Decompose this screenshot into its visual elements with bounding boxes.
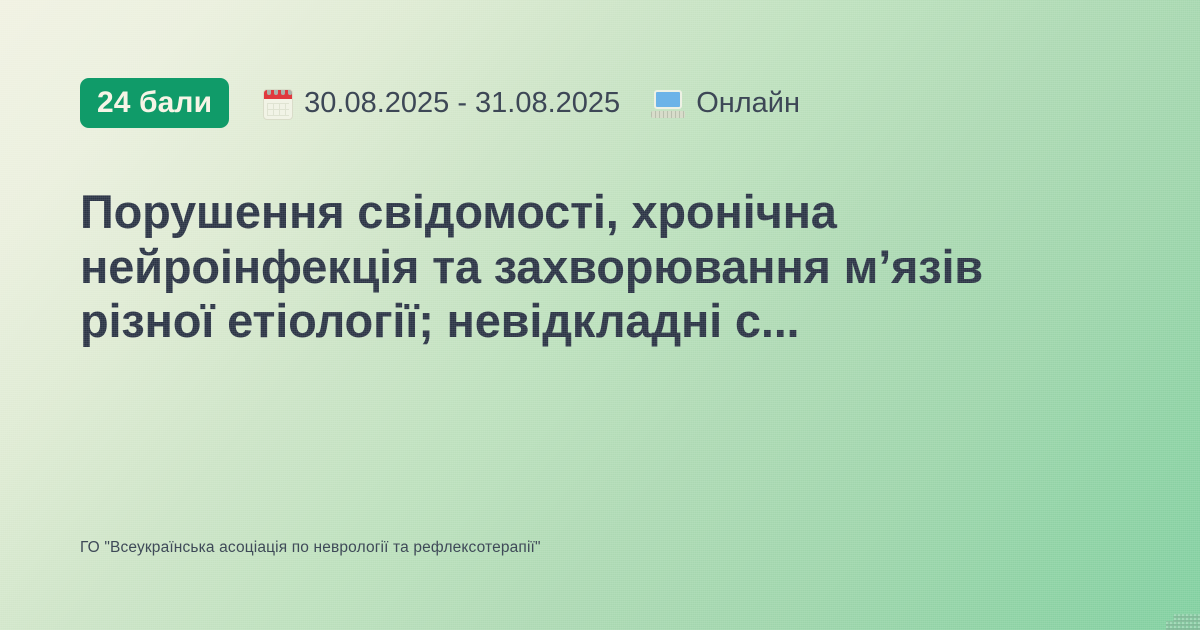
event-card: 24 бали 30.08.2025 - 31.08.2025 Онлайн П… [0, 0, 1200, 630]
event-date: 30.08.2025 - 31.08.2025 [263, 87, 620, 120]
calendar-icon [263, 89, 293, 120]
organizer-name: ГО "Всеукраїнська асоціація по неврологі… [80, 538, 541, 558]
credit-points-badge: 24 бали [80, 78, 229, 128]
computer-base [651, 111, 685, 118]
event-format-label: Онлайн [696, 89, 800, 118]
calendar-rings [267, 89, 292, 95]
event-date-label: 30.08.2025 - 31.08.2025 [304, 89, 620, 118]
computer-icon [651, 89, 685, 119]
computer-screen [654, 90, 682, 109]
corner-artifact [1166, 608, 1200, 630]
event-format: Онлайн [651, 87, 800, 119]
event-title: Порушення свідомості, хронічна нейроінфе… [80, 128, 1120, 349]
event-meta-row: 24 бали 30.08.2025 - 31.08.2025 Онлайн [80, 78, 1120, 128]
